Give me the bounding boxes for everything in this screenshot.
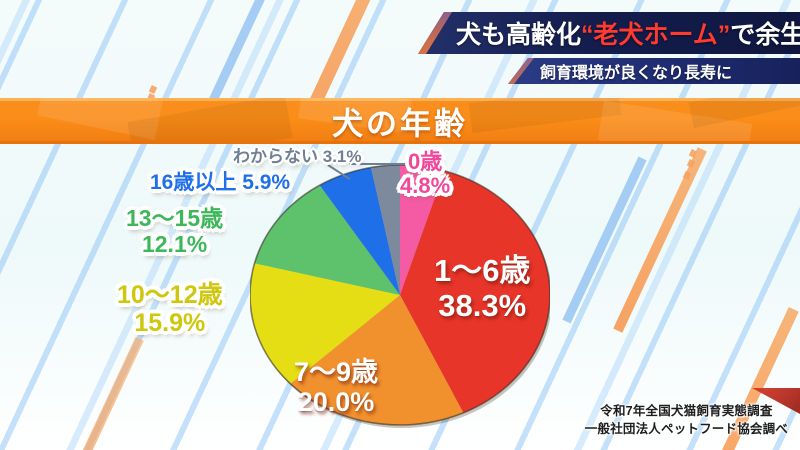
pie-label-16plus-text: 16歳以上 5.9% <box>150 172 290 194</box>
subheadline-text: 飼育環境が良くなり長寿に <box>540 59 732 83</box>
pie-label-13to15: 13～15歳 12.1% <box>126 206 223 256</box>
pie-label-13to15-pct: 12.1% <box>126 232 223 256</box>
source-line-1: 令和7年全国犬猫飼育実態調査 <box>585 402 788 420</box>
pie-label-0-name: 0歳 <box>400 150 450 173</box>
pie-label-unknown: わからない 3.1% <box>233 148 361 166</box>
headline-post: で余生を <box>730 21 800 49</box>
pie-label-10to12-name: 10～12歳 <box>117 282 223 308</box>
pie-label-0-pct: 4.8% <box>400 174 450 197</box>
headline-text: 犬も高齢化“老犬ホーム”で余生を <box>456 15 800 51</box>
pie-label-1to6-pct: 38.3% <box>434 290 530 323</box>
pie-label-7to9: 7～9歳 20.0% <box>294 358 378 417</box>
page-title: 犬の年齢 <box>0 99 800 144</box>
pie-label-0: 0歳 4.8% <box>400 150 450 197</box>
chart-title-band: 犬の年齢 <box>0 98 800 144</box>
pie-label-7to9-name: 7～9歳 <box>294 358 378 386</box>
subheadline-banner: 飼育環境が良くなり長寿に <box>508 58 800 84</box>
source-attribution: 令和7年全国犬猫飼育実態調査 一般社団法人ペットフード協会調べ <box>585 402 788 438</box>
source-line-2: 一般社団法人ペットフード協会調べ <box>585 420 788 438</box>
pie-label-1to6-name: 1～6歳 <box>434 255 530 288</box>
pie-label-10to12: 10～12歳 15.9% <box>117 282 223 337</box>
pie-label-unknown-text: わからない 3.1% <box>233 148 361 166</box>
pie-label-7to9-pct: 20.0% <box>294 388 378 416</box>
pie-label-10to12-pct: 15.9% <box>117 310 223 336</box>
pie-label-13to15-name: 13～15歳 <box>126 206 223 230</box>
headline-banner: 犬も高齢化“老犬ホーム”で余生を <box>418 12 800 54</box>
headline-pre: 犬も高齢化 <box>456 21 581 49</box>
headline-highlight: “老犬ホーム” <box>581 21 730 49</box>
pie-label-16plus: 16歳以上 5.9% <box>150 172 290 194</box>
screen: 犬も高齢化“老犬ホーム”で余生を 飼育環境が良くなり長寿に 犬の年齢 わからない… <box>0 0 800 450</box>
pie-label-1to6: 1～6歳 38.3% <box>434 255 530 322</box>
